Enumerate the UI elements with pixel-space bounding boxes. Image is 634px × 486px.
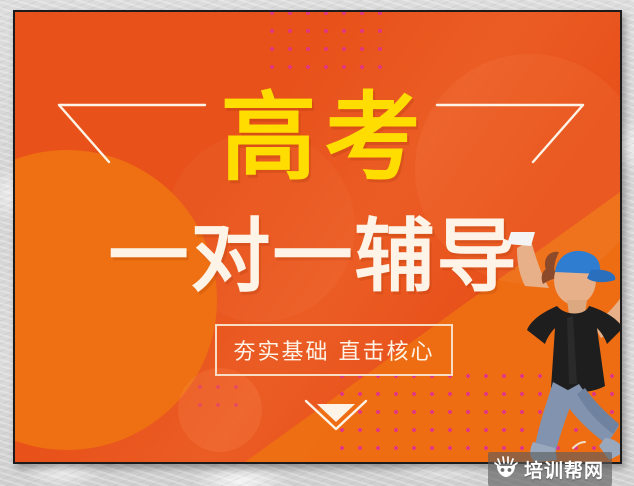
promo-banner: 高考 一对一辅导 夯实基础 直击核心 [13,10,622,464]
tagline-box: 夯实基础 直击核心 [215,324,453,376]
page-title: 高考 [15,90,620,186]
watermark: 培训帮网 [488,452,612,486]
sun-face-icon [494,456,518,482]
watermark-text: 培训帮网 [524,456,604,483]
magenta-dot-grid-bottom-left [191,378,249,416]
magenta-dot-grid-top [263,10,395,70]
chevron-down-icon [303,398,369,432]
jumping-student-illustration [473,232,622,464]
page-background: 高考 一对一辅导 夯实基础 直击核心 [0,0,634,486]
tagline-text: 夯实基础 直击核心 [234,334,435,366]
